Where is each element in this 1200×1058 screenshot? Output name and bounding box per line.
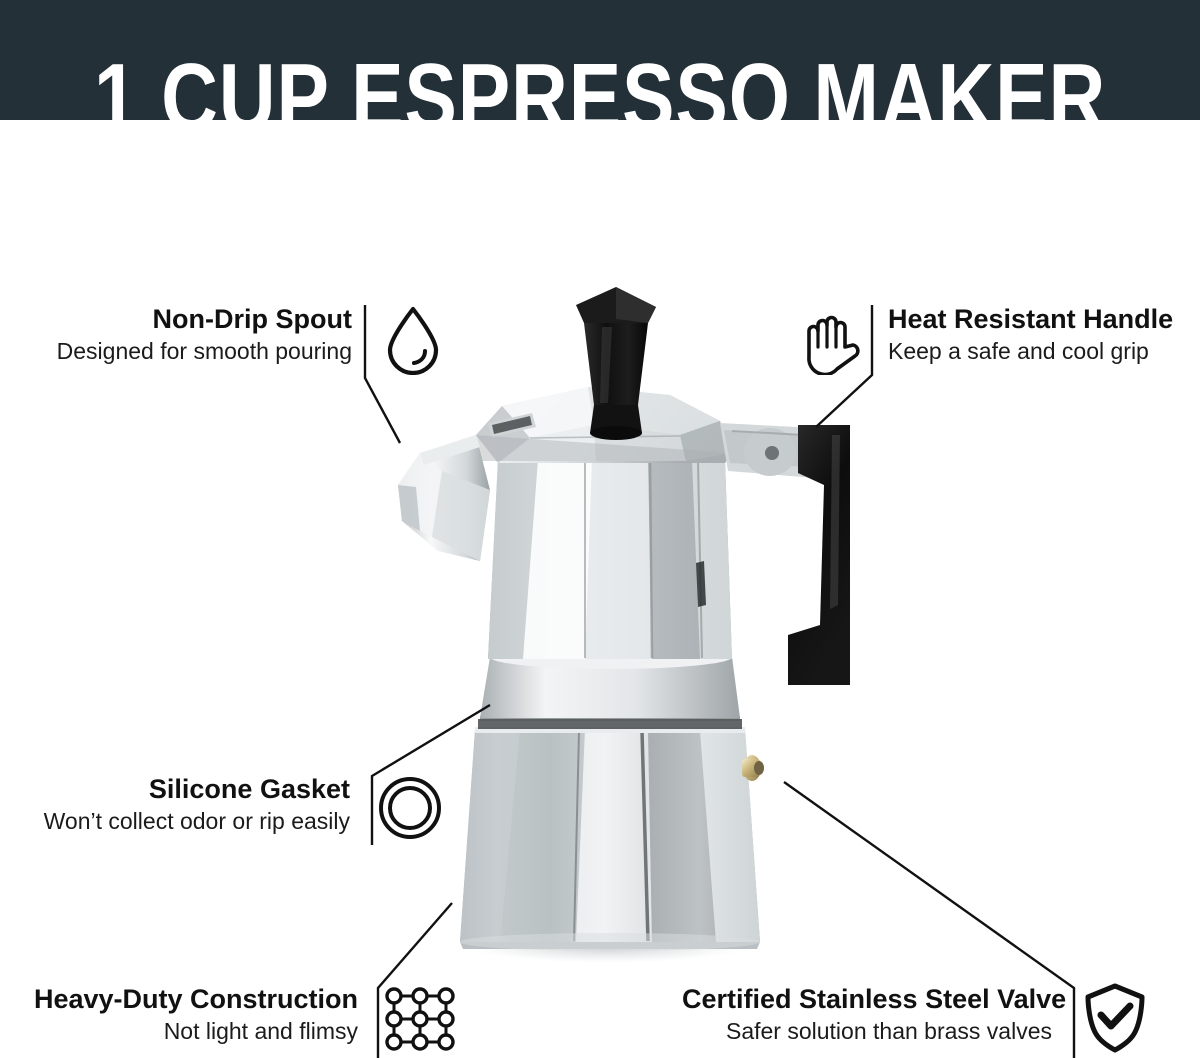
callout-subtitle: Designed for smooth pouring — [30, 336, 352, 366]
callout-subtitle: Not light and flimsy — [10, 1016, 358, 1046]
callout-title: Heavy-Duty Construction — [10, 983, 358, 1016]
callout-subtitle: Keep a safe and cool grip — [888, 336, 1188, 366]
callout-title: Silicone Gasket — [20, 773, 350, 806]
callout-certified-stainless-steel-valve: Certified Stainless Steel Valve Safer so… — [682, 982, 1154, 1054]
callout-heat-resistant-handle: Heat Resistant Handle Keep a safe and co… — [790, 302, 1188, 378]
callout-non-drip-spout: Non-Drip Spout Designed for smooth pouri… — [30, 302, 452, 378]
hand-icon — [790, 302, 868, 378]
lattice-grid-icon — [380, 982, 460, 1054]
ring-gasket-icon — [372, 772, 448, 844]
page-title: 1 CUP ESPRESSO MAKER — [94, 50, 1106, 120]
product-image-moka-pot — [380, 275, 850, 965]
callout-silicone-gasket: Silicone Gasket Won’t collect odor or ri… — [20, 772, 448, 844]
callout-title: Certified Stainless Steel Valve — [682, 983, 1052, 1016]
callout-heavy-duty-construction: Heavy-Duty Construction Not light and fl… — [10, 982, 460, 1054]
handle — [720, 423, 850, 685]
callout-subtitle: Won’t collect odor or rip easily — [20, 806, 350, 836]
shield-check-icon — [1076, 982, 1154, 1054]
callout-subtitle: Safer solution than brass valves — [682, 1016, 1052, 1046]
water-drop-icon — [374, 302, 452, 378]
callout-title: Heat Resistant Handle — [888, 303, 1188, 336]
header-banner: 1 CUP ESPRESSO MAKER — [0, 0, 1200, 120]
callout-title: Non-Drip Spout — [30, 303, 352, 336]
infographic-page: 1 CUP ESPRESSO MAKER — [0, 0, 1200, 1058]
